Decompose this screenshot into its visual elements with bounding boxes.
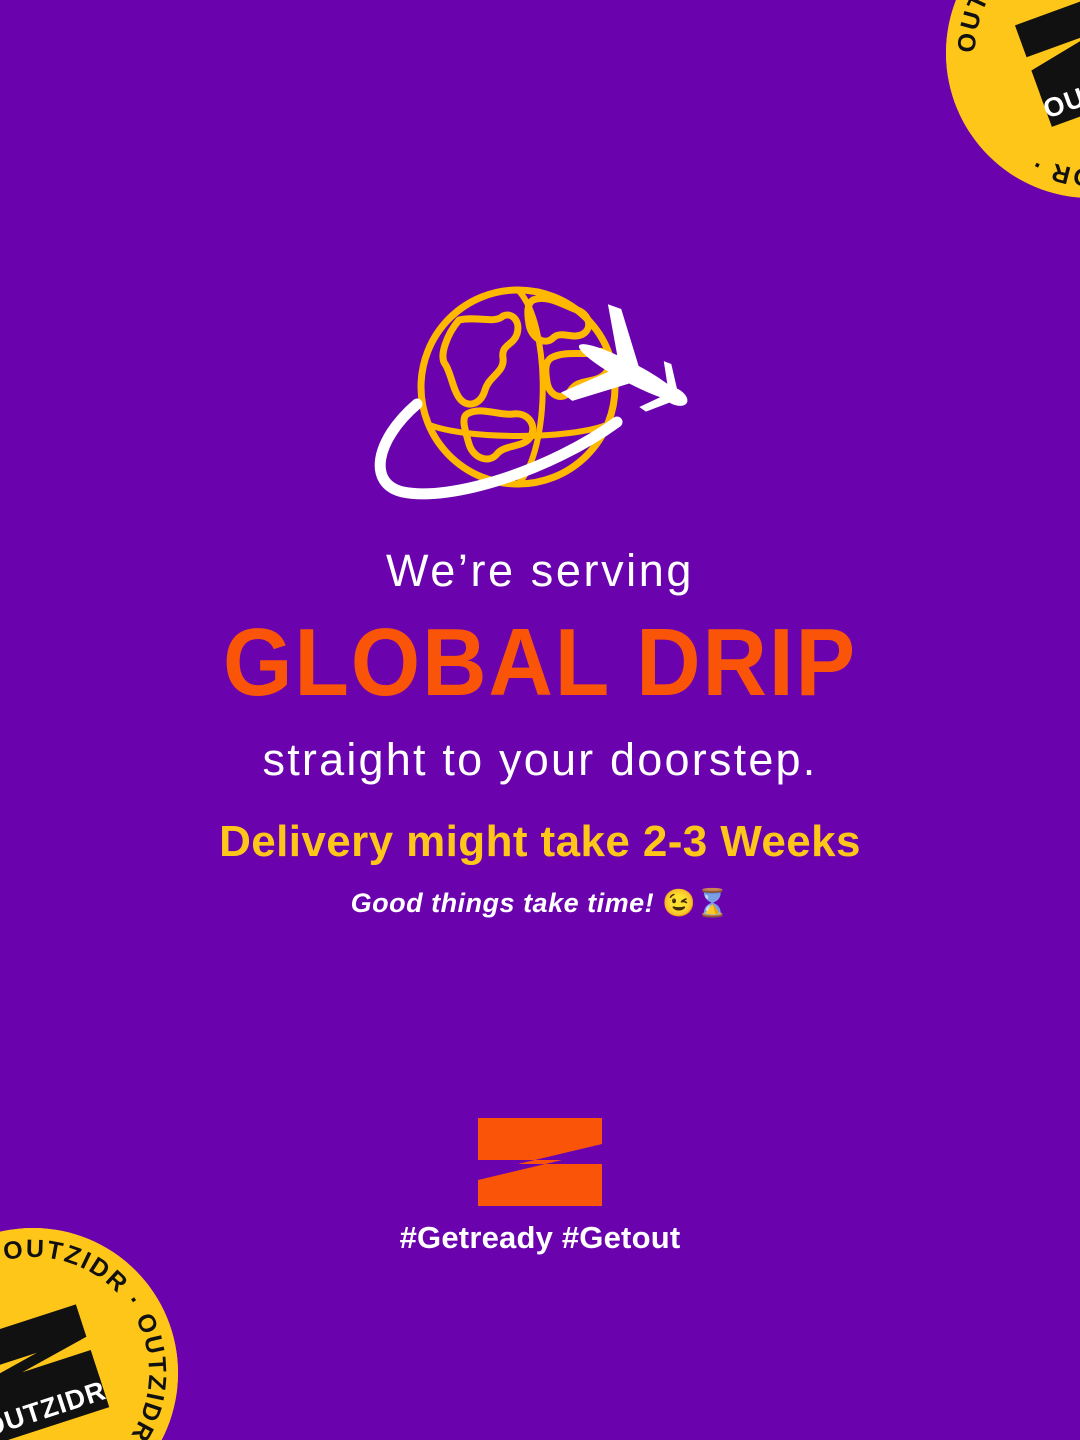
page-title: GLOBAL DRIP [38,615,1042,711]
headline-block: We’re serving GLOBAL DRIP straight to yo… [0,548,1080,782]
poster-canvas: OUTZIDR · OUTZIDR · OUTZIDR · OUTZIDR · … [0,0,1080,1440]
outzidr-z-mark [478,1118,602,1206]
wink-hourglass-emoji: 😉⌛ [662,888,729,918]
outzidr-stamp-bottom-left: OUTZIDR · OUTZIDR · OUTZIDR · OUTZIDR · … [0,1228,178,1440]
globe-airplane-illustration [355,272,725,520]
subline-text: straight to your doorstep. [0,737,1080,782]
delivery-notice: Delivery might take 2-3 Weeks Good thing… [0,820,1080,917]
outzidr-stamp-top-right: OUTZIDR · OUTZIDR · OUTZIDR · OUTZIDR · … [946,0,1080,198]
eyebrow-text: We’re serving [0,548,1080,593]
delivery-time-text: Delivery might take 2-3 Weeks [0,820,1080,864]
delivery-subtext: Good things take time! 😉⌛ [0,890,1080,917]
delivery-note-label: Good things take time! [351,888,655,918]
